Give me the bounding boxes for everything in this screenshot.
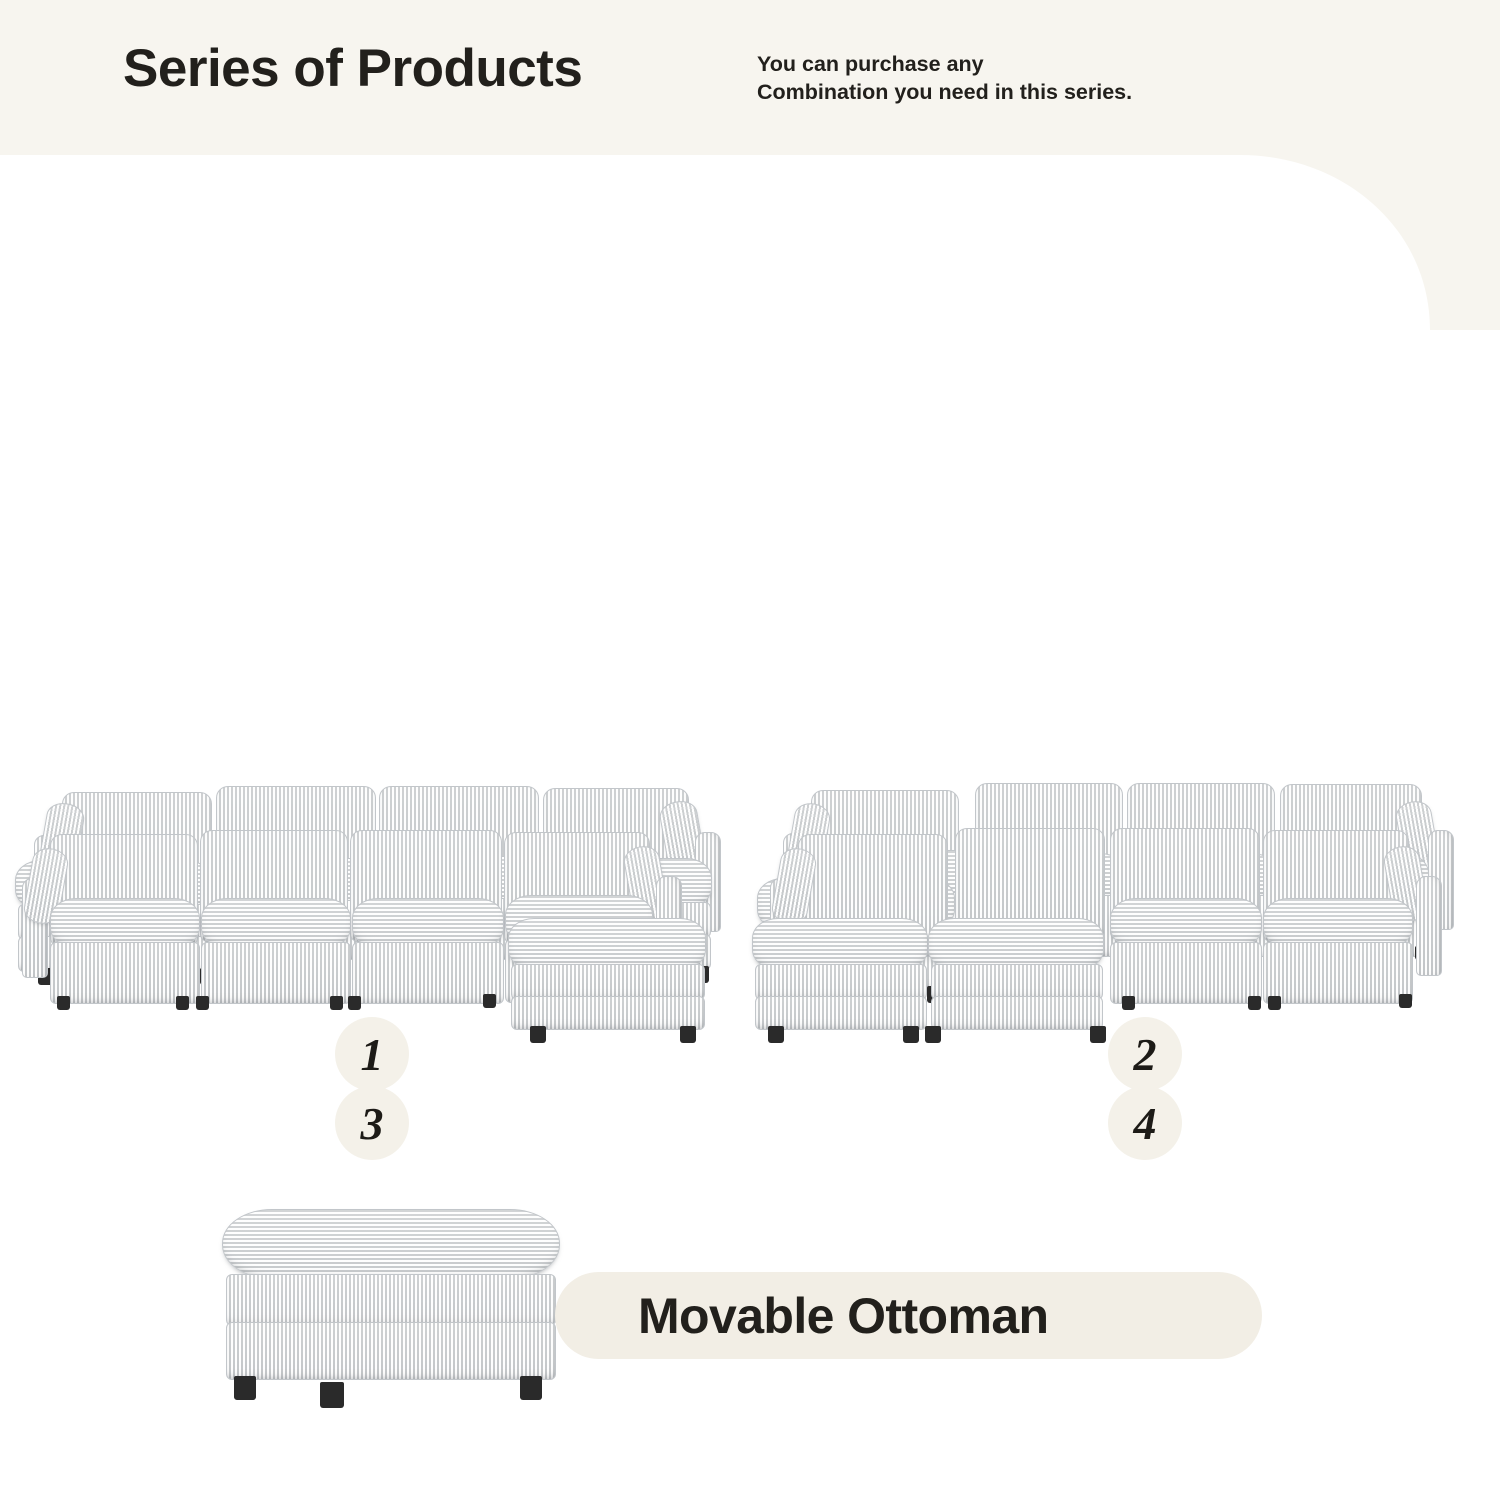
configuration-2-image: 2 — [0, 380, 1500, 620]
config-2-badge: 2 — [1108, 1017, 1182, 1091]
movable-ottoman-image — [0, 0, 600, 260]
product-series-infographic: Series of Products You can purchase any … — [0, 0, 1500, 1500]
config-1-badge: 1 — [335, 1017, 409, 1091]
config-3-badge: 3 — [335, 1086, 409, 1160]
config-4-badge: 4 — [1108, 1086, 1182, 1160]
movable-ottoman-label: Movable Ottoman — [638, 1287, 1048, 1345]
movable-ottoman-banner: Movable Ottoman — [555, 1272, 1262, 1359]
